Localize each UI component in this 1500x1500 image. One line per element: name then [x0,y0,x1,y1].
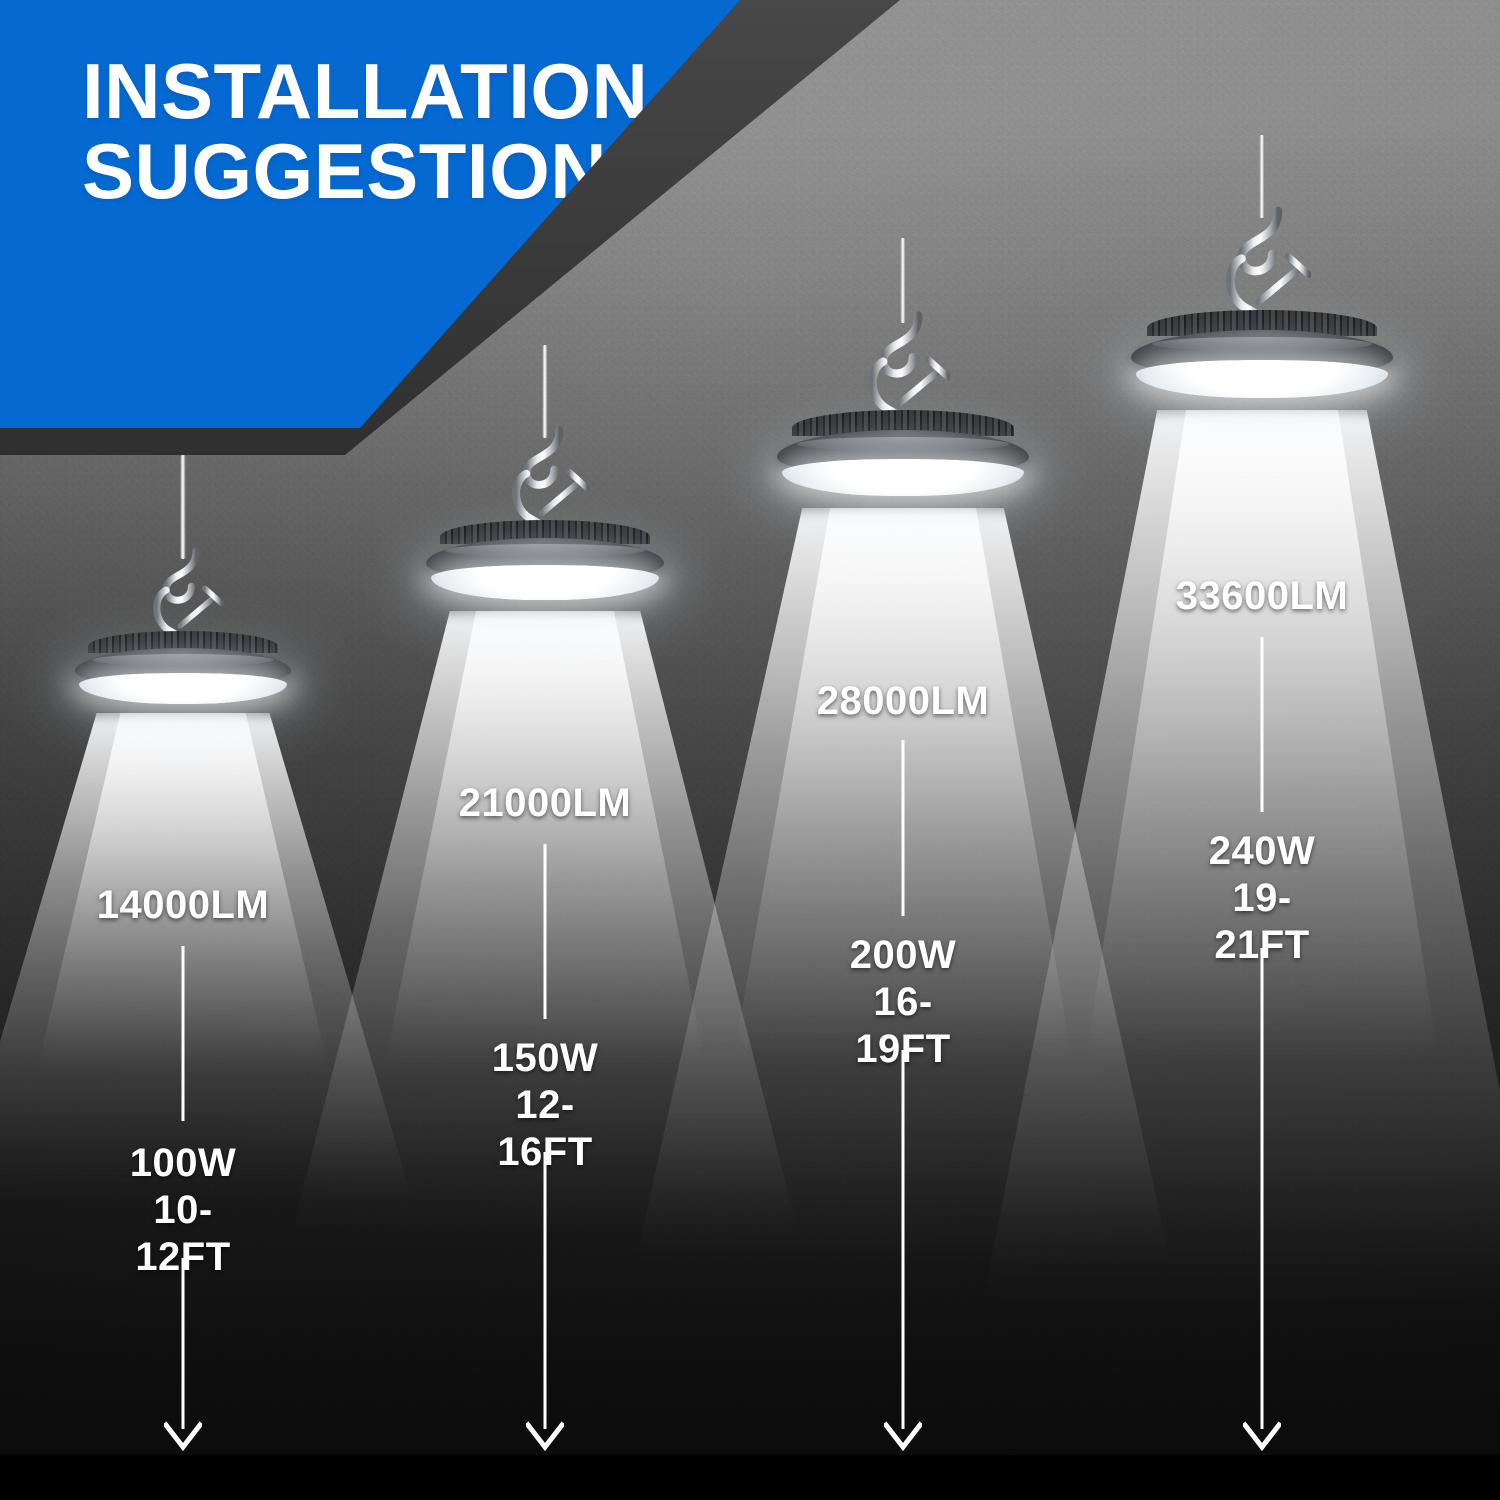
drop-arrow-shaft [1261,948,1264,1429]
floor-band [0,1455,1500,1500]
high-bay-fixture [777,430,1029,514]
fixture-lens [79,673,286,704]
high-bay-fixture [426,538,664,617]
fixture-150w: 21000LM 150W 12-16FT [426,0,664,1500]
measurement-line [182,946,185,1121]
high-bay-fixture [1131,330,1393,416]
fixture-lens [431,565,659,600]
measurement-line [1261,637,1264,812]
housing-highlight [92,654,273,666]
drop-arrow-head [1243,1419,1281,1457]
lumens-label: 14000LM [97,882,269,929]
drop-arrow-shaft [182,1258,185,1429]
down-arrow-icon [164,1419,202,1457]
lumens-label: 33600LM [1176,573,1348,620]
measurement-line [544,844,547,1019]
high-bay-fixture [75,648,291,719]
fixture-240w: 33600LM 240W 19-21FT [1131,0,1393,1500]
housing-highlight [797,437,1009,451]
down-arrow-icon [1243,1419,1281,1457]
fixture-lens [1136,360,1388,398]
drop-arrow-head [164,1419,202,1457]
housing-highlight [1152,337,1372,351]
lumens-label: 21000LM [459,780,631,827]
lumens-label: 28000LM [817,678,989,725]
measurement-line [902,740,905,916]
suspension-cable [181,455,186,559]
fixture-lens [782,459,1024,496]
infographic-canvas: INSTALLATION SUGGESTION [0,0,1500,1500]
fixture-200w: 28000LM 200W 16-19FT [777,0,1029,1500]
drop-arrow-head [884,1419,922,1457]
down-arrow-icon [526,1419,564,1457]
drop-arrow-head [526,1419,564,1457]
fixture-100w: 14000LM 100W 10-12FT [75,0,291,1500]
drop-arrow-shaft [544,1152,547,1429]
housing-highlight [445,544,645,557]
drop-arrow-shaft [902,1050,905,1429]
down-arrow-icon [884,1419,922,1457]
